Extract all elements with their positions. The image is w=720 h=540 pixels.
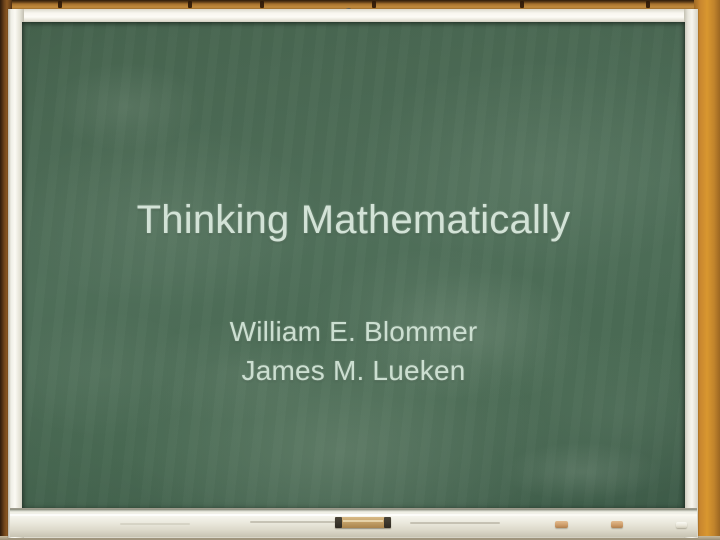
slide-author-2: James M. Lueken: [22, 351, 685, 390]
chalk-stick[interactable]: [611, 521, 623, 528]
chalkboard-eraser[interactable]: [335, 517, 391, 528]
slide-title: Thinking Mathematically: [22, 196, 685, 244]
chalk-dust: [120, 523, 190, 525]
chalk-tray-shadow: [10, 509, 697, 512]
eraser-end-cap: [335, 517, 342, 528]
eraser-end-cap: [384, 517, 391, 528]
eraser-highlight: [343, 520, 383, 522]
slide-text-layer: Thinking Mathematically William E. Blomm…: [22, 22, 685, 510]
screw-head-icon: [188, 1, 192, 8]
chalk-stick[interactable]: [676, 522, 687, 528]
screw-head-icon: [260, 1, 264, 8]
chalk-stick[interactable]: [555, 521, 568, 528]
inner-frame-right: [684, 9, 698, 538]
screw-head-icon: [520, 1, 524, 8]
slide-author-1: William E. Blommer: [22, 312, 685, 351]
inner-frame-top: [8, 9, 698, 23]
screw-head-icon: [372, 1, 376, 8]
chalk-dust: [410, 522, 500, 524]
chalkboard-slide: Thinking Mathematically William E. Blomm…: [0, 0, 720, 540]
screw-head-icon: [58, 1, 62, 8]
chalk-tray-lip: [10, 514, 697, 516]
chalk-tray: [10, 508, 697, 537]
screw-head-icon: [646, 1, 650, 8]
slide-subtitle-group: William E. Blommer James M. Lueken: [22, 312, 685, 390]
